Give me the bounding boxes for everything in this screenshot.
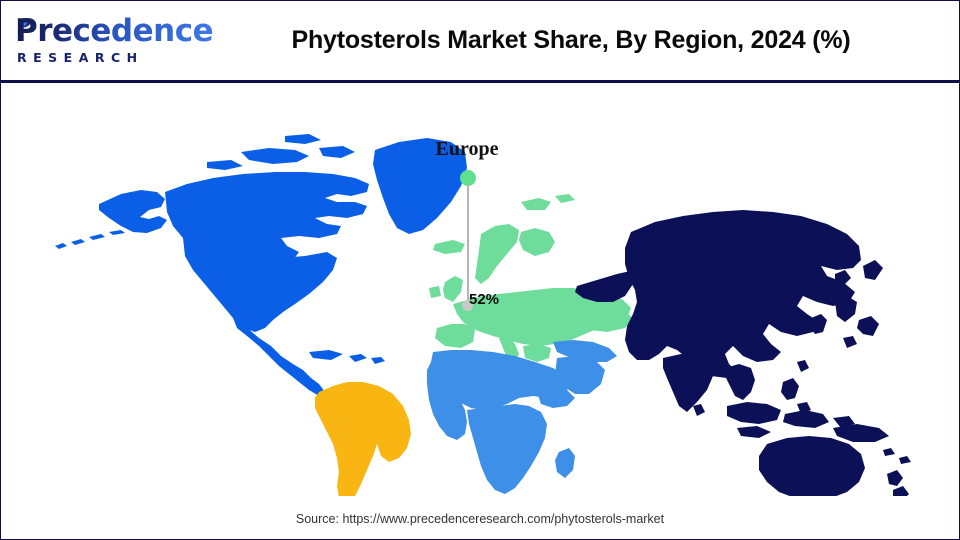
region-north-america[interactable] xyxy=(55,134,467,396)
map-container: Europe 52% xyxy=(1,84,959,499)
logo-wordmark: Precedence xyxy=(15,14,213,48)
footer-bar: Source: https://www.precedenceresearch.c… xyxy=(1,499,959,539)
region-asia-pacific[interactable] xyxy=(575,210,911,496)
logo-subtitle-text: RESEARCH xyxy=(17,50,144,65)
chart-infographic-page: Precedence RESEARCH Phytosterols Market … xyxy=(0,0,960,540)
precedence-research-logo[interactable]: Precedence RESEARCH xyxy=(15,14,175,70)
region-latin-america[interactable] xyxy=(315,382,411,496)
region-europe[interactable] xyxy=(429,194,633,362)
source-link[interactable]: Source: https://www.precedenceresearch.c… xyxy=(296,512,664,526)
page-title: Phytosterols Market Share, By Region, 20… xyxy=(201,1,941,80)
header-bar: Precedence RESEARCH Phytosterols Market … xyxy=(1,1,960,83)
region-middle-east-africa[interactable] xyxy=(427,340,617,494)
logo-subtitle: RESEARCH xyxy=(17,50,144,65)
world-map xyxy=(37,106,917,496)
